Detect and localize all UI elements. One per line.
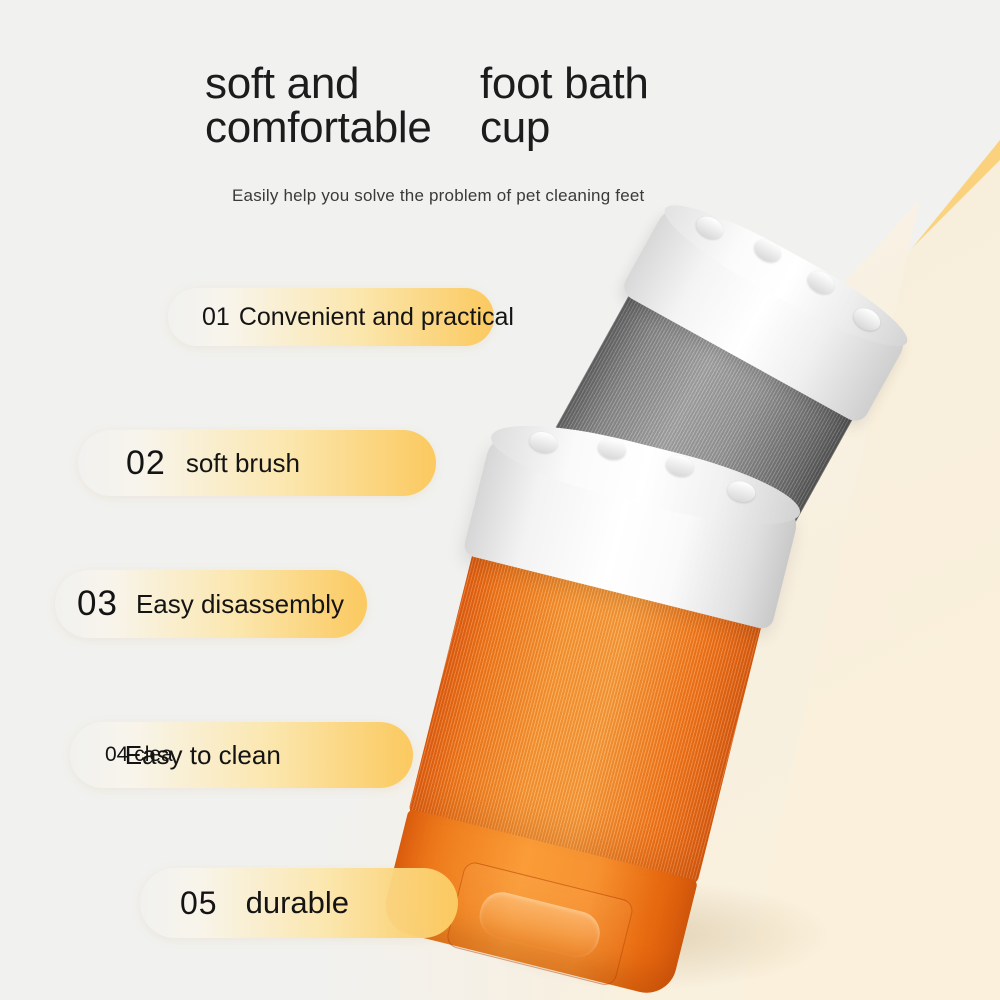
feature-pill-03[interactable]: 03 Easy disassembly (55, 570, 367, 638)
feature-label-05: durable (246, 885, 349, 921)
feature-number-05: 05 (180, 885, 218, 922)
headline-line2-right: cup (480, 102, 550, 154)
feature-number-02: 02 (126, 444, 166, 483)
feature-number-03: 03 (77, 584, 118, 624)
feature-pill-05[interactable]: 05 durable (140, 868, 458, 938)
feature-pill-01[interactable]: 01 Convenient and practical (168, 288, 494, 346)
feature-pill-04[interactable]: 04 clea Easy to clean (70, 722, 413, 788)
headline-row-1: soft and foot bath comfortable cup (205, 58, 845, 111)
feature-label-03: Easy disassembly (136, 589, 344, 620)
feature-label-02: soft brush (186, 448, 300, 479)
headline-block: soft and foot bath comfortable cup (205, 58, 845, 111)
feature-label-01: Convenient and practical (239, 303, 514, 332)
subtitle: Easily help you solve the problem of pet… (232, 186, 644, 206)
feature-number-01: 01 (202, 303, 230, 332)
feature-label-04: Easy to clean (125, 740, 281, 771)
headline-line2-left: comfortable (205, 102, 432, 154)
feature-pill-02[interactable]: 02 soft brush (78, 430, 436, 496)
product-poster: soft and foot bath comfortable cup Easil… (0, 0, 1000, 1000)
